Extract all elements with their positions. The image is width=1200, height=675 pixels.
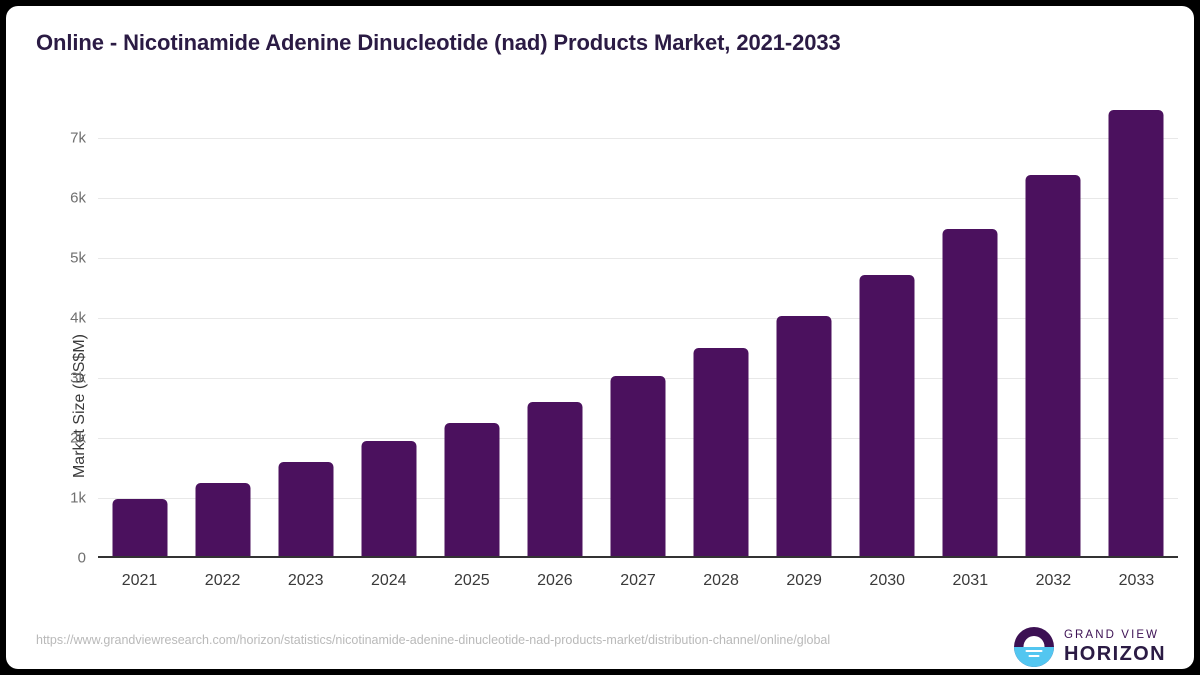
x-axis-tick-label: 2026: [537, 572, 573, 590]
x-axis-tick-label: 2025: [454, 572, 490, 590]
logo-bar-lower: [1028, 655, 1039, 658]
bar[interactable]: [527, 402, 582, 558]
x-axis-tick-label: 2022: [205, 572, 241, 590]
grand-view-horizon-logo-icon: [1014, 627, 1054, 667]
y-axis-tick-label: 2k: [40, 430, 86, 447]
logo-bar-upper: [1025, 650, 1042, 653]
x-axis-tick-label: 2028: [703, 572, 739, 590]
bar-group: 2027: [596, 110, 679, 558]
x-axis-tick-label: 2024: [371, 572, 407, 590]
logo-grand-view-text: GRAND VIEW: [1064, 630, 1166, 642]
brand-logo: GRAND VIEW HORIZON: [1014, 627, 1166, 667]
bar[interactable]: [860, 275, 915, 558]
bar-group: 2030: [846, 110, 929, 558]
bar-group: 2032: [1012, 110, 1095, 558]
bar[interactable]: [1109, 110, 1164, 558]
bar[interactable]: [610, 376, 665, 558]
bar[interactable]: [1026, 175, 1081, 558]
bar-group: 2021: [98, 110, 181, 558]
bar-group: 2026: [513, 110, 596, 558]
page-title: Online - Nicotinamide Adenine Dinucleoti…: [36, 30, 841, 56]
y-axis-title: Market Size (US$M): [71, 334, 89, 478]
bar-group: 2022: [181, 110, 264, 558]
chart-card: Online - Nicotinamide Adenine Dinucleoti…: [6, 6, 1194, 669]
bar-group: 2031: [929, 110, 1012, 558]
x-axis-tick-label: 2029: [786, 572, 822, 590]
bar[interactable]: [444, 423, 499, 558]
source-url[interactable]: https://www.grandviewresearch.com/horizo…: [36, 631, 941, 650]
x-axis-tick-label: 2033: [1119, 572, 1155, 590]
bar[interactable]: [278, 462, 333, 558]
y-axis-tick-label: 6k: [40, 190, 86, 207]
logo-horizon-text: HORIZON: [1064, 644, 1166, 664]
y-axis-tick-label: 4k: [40, 310, 86, 327]
y-axis-tick-label: 7k: [40, 130, 86, 147]
logo-wordmark: GRAND VIEW HORIZON: [1064, 630, 1166, 665]
y-axis-tick-label: 0: [40, 550, 86, 567]
x-axis-tick-label: 2023: [288, 572, 324, 590]
bar[interactable]: [195, 483, 250, 558]
bar-group: 2024: [347, 110, 430, 558]
bar-group: 2029: [763, 110, 846, 558]
x-axis-tick-label: 2032: [1036, 572, 1072, 590]
bar[interactable]: [943, 229, 998, 558]
bar[interactable]: [361, 441, 416, 558]
bar-group: 2025: [430, 110, 513, 558]
y-axis-tick-label: 3k: [40, 370, 86, 387]
y-axis-tick-label: 5k: [40, 250, 86, 267]
x-axis-tick-label: 2027: [620, 572, 656, 590]
bar[interactable]: [777, 316, 832, 558]
bar-group: 2028: [680, 110, 763, 558]
bar-group: 2033: [1095, 110, 1178, 558]
x-axis-tick-label: 2030: [869, 572, 905, 590]
y-axis-tick-label: 1k: [40, 490, 86, 507]
x-axis-line: [98, 556, 1178, 558]
x-axis-tick-label: 2021: [122, 572, 158, 590]
plot-area: Market Size (US$M) 01k2k3k4k5k6k7k 20212…: [98, 110, 1178, 558]
bar-group: 2023: [264, 110, 347, 558]
logo-dome-shape: [1023, 636, 1044, 647]
bar[interactable]: [694, 348, 749, 558]
bar[interactable]: [112, 499, 167, 558]
x-axis-tick-label: 2031: [953, 572, 989, 590]
